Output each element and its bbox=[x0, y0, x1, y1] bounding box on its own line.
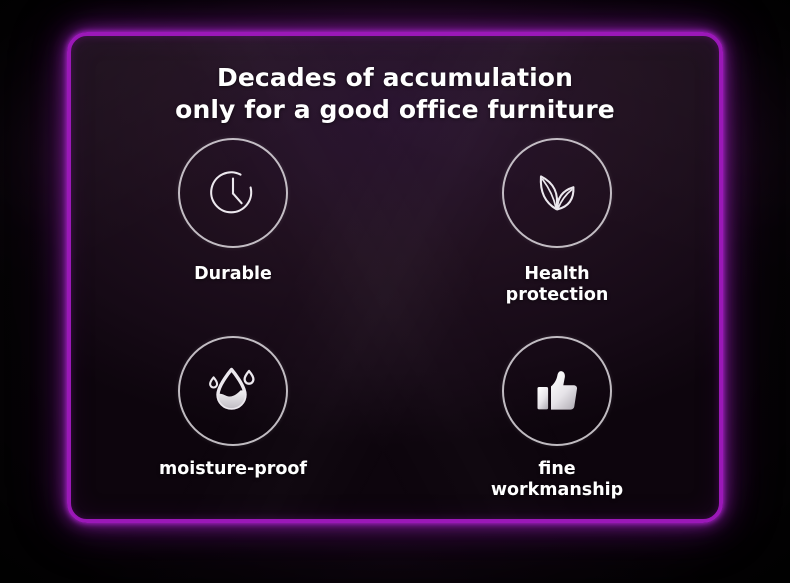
thumbs-up-icon bbox=[502, 336, 612, 446]
feature-label-fine-workmanship: fine workmanship bbox=[491, 459, 623, 502]
page-title-line-2: only for a good office furniture bbox=[71, 94, 719, 126]
feature-item-health-protection[interactable]: Health protection bbox=[395, 132, 719, 324]
clock-icon bbox=[178, 138, 288, 248]
feature-item-moisture-proof[interactable]: moisture-proof bbox=[71, 324, 395, 516]
leaves-icon bbox=[502, 138, 612, 248]
page-title: Decades of accumulation only for a good … bbox=[71, 62, 719, 126]
feature-item-fine-workmanship[interactable]: fine workmanship bbox=[395, 324, 719, 516]
water-drop-icon bbox=[178, 336, 288, 446]
feature-item-durable[interactable]: Durable bbox=[71, 132, 395, 324]
page-title-line-1: Decades of accumulation bbox=[217, 63, 573, 92]
feature-label-moisture-proof: moisture-proof bbox=[159, 459, 307, 480]
feature-grid: Durable Health protection bbox=[71, 132, 719, 516]
neon-frame-panel: Decades of accumulation only for a good … bbox=[67, 32, 723, 523]
feature-label-health-protection: Health protection bbox=[506, 264, 609, 307]
feature-label-durable: Durable bbox=[194, 264, 272, 285]
promo-banner: Decades of accumulation only for a good … bbox=[0, 0, 790, 583]
